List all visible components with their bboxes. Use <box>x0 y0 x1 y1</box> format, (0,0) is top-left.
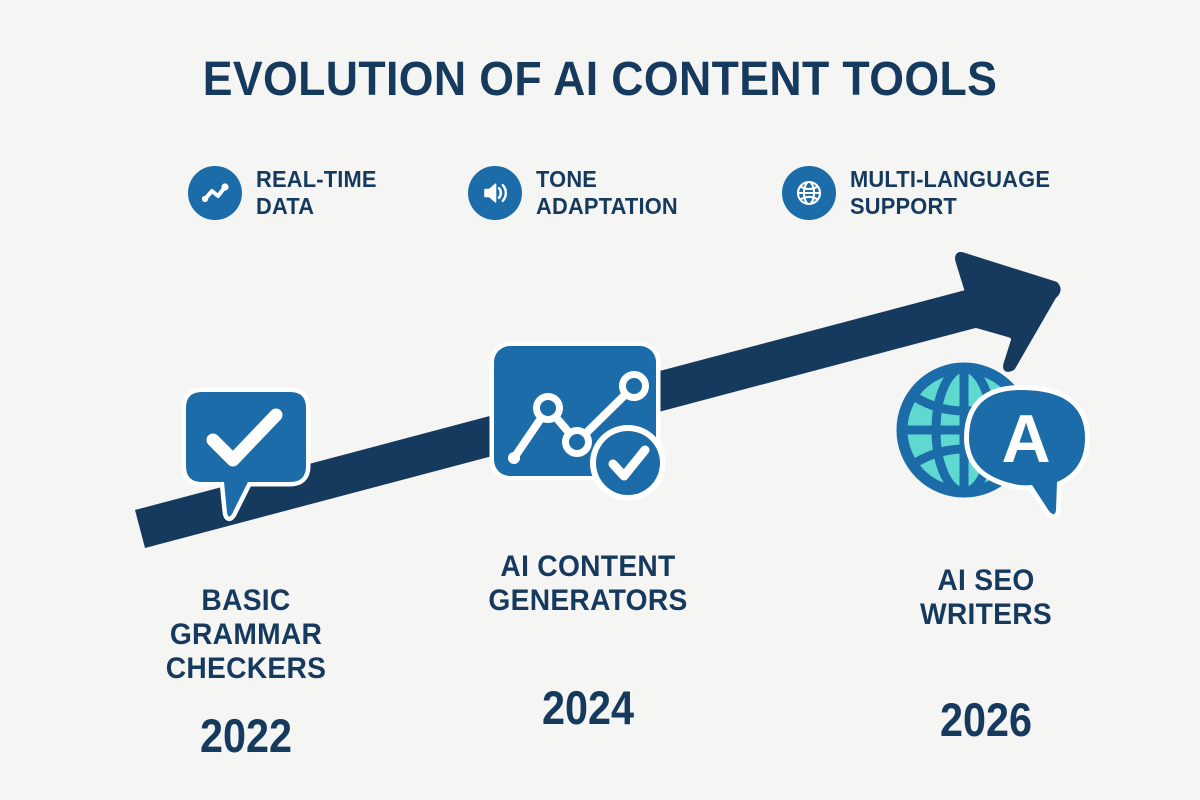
milestone-label: AI CONTENT GENERATORS <box>447 550 729 618</box>
milestone-ai-seo-writers: A AI SEO WRITERS 2026 <box>836 352 1136 747</box>
feature-badge-real-time-data: REAL-TIME DATA <box>188 166 383 220</box>
milestone-artwork: A <box>836 352 1136 552</box>
milestone-year: 2026 <box>854 692 1118 747</box>
feature-badge-row: REAL-TIME DATA TONE ADAPTATION <box>188 158 1128 238</box>
feature-label: TONE ADAPTATION <box>536 166 678 220</box>
feature-label: MULTI-LANGUAGE SUPPORT <box>850 166 1050 220</box>
page-title: EVOLUTION OF AI CONTENT TOOLS <box>42 52 1158 107</box>
milestone-artwork <box>96 370 396 570</box>
speech-bubble-check-icon <box>96 370 396 550</box>
chart-card-check-icon <box>438 330 738 530</box>
milestone-artwork <box>438 330 738 530</box>
milestone-year: 2022 <box>114 708 378 763</box>
milestone-basic-grammar-checkers: BASIC GRAMMAR CHECKERS 2022 <box>96 370 396 763</box>
trend-line-icon <box>188 166 242 220</box>
milestone-label: AI SEO WRITERS <box>845 564 1127 632</box>
feature-badge-tone-adaptation: TONE ADAPTATION <box>468 166 685 220</box>
infographic-canvas: EVOLUTION OF AI CONTENT TOOLS REAL-TIME … <box>0 0 1200 800</box>
feature-badge-multi-language-support: MULTI-LANGUAGE SUPPORT <box>782 166 1061 220</box>
milestone-ai-content-generators: AI CONTENT GENERATORS 2024 <box>438 330 738 735</box>
milestone-label: BASIC GRAMMAR CHECKERS <box>105 584 387 686</box>
globe-speech-bubble-a-icon: A <box>836 352 1136 532</box>
milestone-year: 2024 <box>456 680 720 735</box>
globe-icon <box>782 166 836 220</box>
speaker-volume-icon <box>468 166 522 220</box>
svg-text:A: A <box>1001 401 1050 477</box>
feature-label: REAL-TIME DATA <box>256 166 377 220</box>
